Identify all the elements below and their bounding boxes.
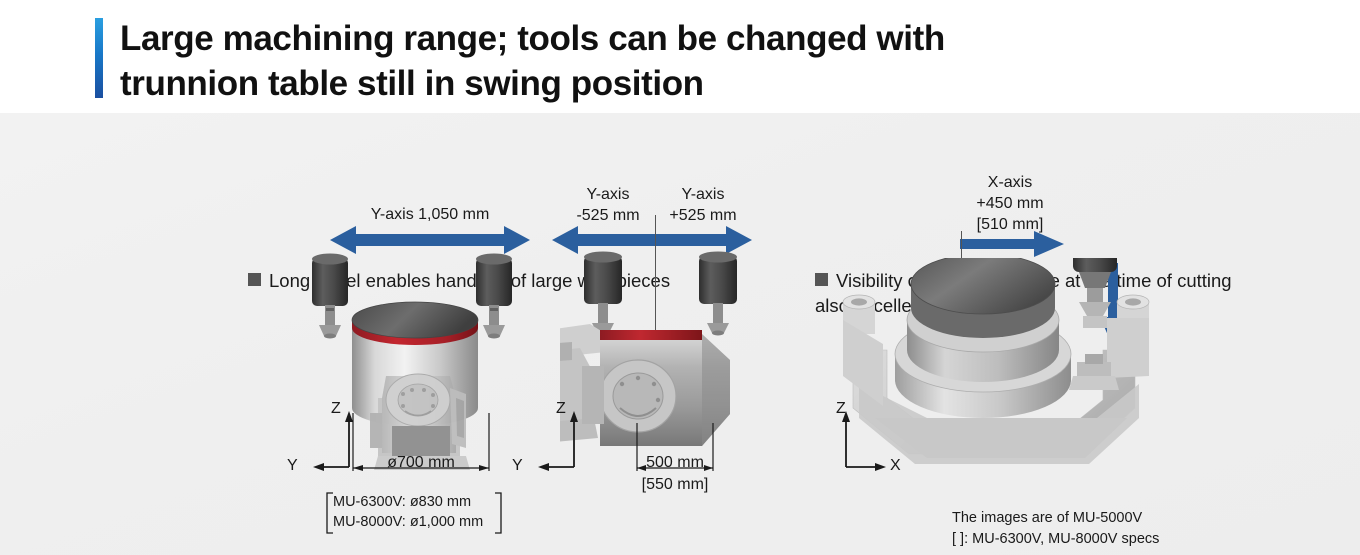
- diameter-label-front: ø700 mm: [350, 453, 492, 474]
- figure-iso-travel-label: X-axis +450 mm [510 mm]: [960, 173, 1060, 235]
- page-title: Large machining range; tools can be chan…: [120, 17, 1120, 107]
- axis-label-x-iso: X: [890, 457, 901, 475]
- axis-label-y-front: Y: [287, 457, 298, 475]
- width-label-side: 500 mm: [628, 453, 722, 474]
- figure-front-travel-label: Y-axis 1,050 mm: [330, 205, 530, 226]
- figure-side-travel-label-left: Y-axis -525 mm: [563, 185, 653, 227]
- figure-side-travel-label-right: Y-axis +525 mm: [658, 185, 748, 227]
- accent-bar: [95, 18, 103, 98]
- bullet-square-icon: [248, 273, 261, 286]
- bullet-square-icon: [815, 273, 828, 286]
- axis-label-z-front: Z: [331, 400, 341, 418]
- axis-label-z-iso: Z: [836, 400, 846, 418]
- x-axis-arrow-iso: [960, 231, 1064, 257]
- content-area: Long travel enables handling of large wo…: [0, 113, 1360, 555]
- axis-label-y-side: Y: [512, 457, 523, 475]
- width-alt-label-side: [550 mm]: [628, 475, 722, 496]
- spec-line-2-front: MU-8000V: ø1,000 mm: [333, 512, 503, 532]
- page-header: Large machining range; tools can be chan…: [0, 0, 1360, 113]
- spec-line-1-front: MU-6300V: ø830 mm: [333, 492, 503, 512]
- footnote-line-2: [ ]: MU-6300V, MU-8000V specs: [952, 529, 1282, 550]
- footnote-line-1: The images are of MU-5000V: [952, 508, 1282, 529]
- axis-label-z-side: Z: [556, 400, 566, 418]
